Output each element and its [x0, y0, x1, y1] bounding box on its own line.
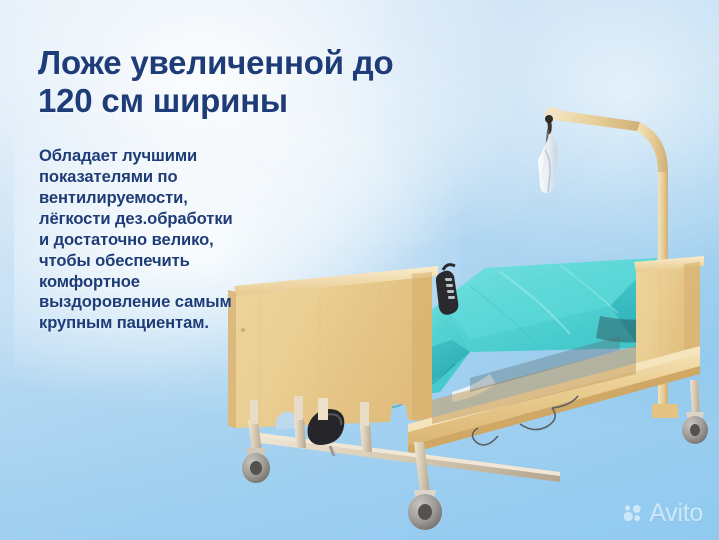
avito-watermark: Avito: [623, 501, 703, 526]
advertisement-banner: Ложе увеличенной до 120 см ширины Облада…: [0, 0, 719, 540]
page-title: Ложе увеличенной до 120 см ширины: [38, 44, 468, 119]
avito-dots-icon: [623, 503, 644, 524]
avito-watermark-label: Avito: [649, 501, 703, 526]
description-text: Обладает лучшими показателями по вентили…: [39, 146, 244, 335]
headline-line-2: 120 см ширины: [38, 82, 468, 120]
headline-line-1: Ложе увеличенной до: [38, 44, 468, 82]
